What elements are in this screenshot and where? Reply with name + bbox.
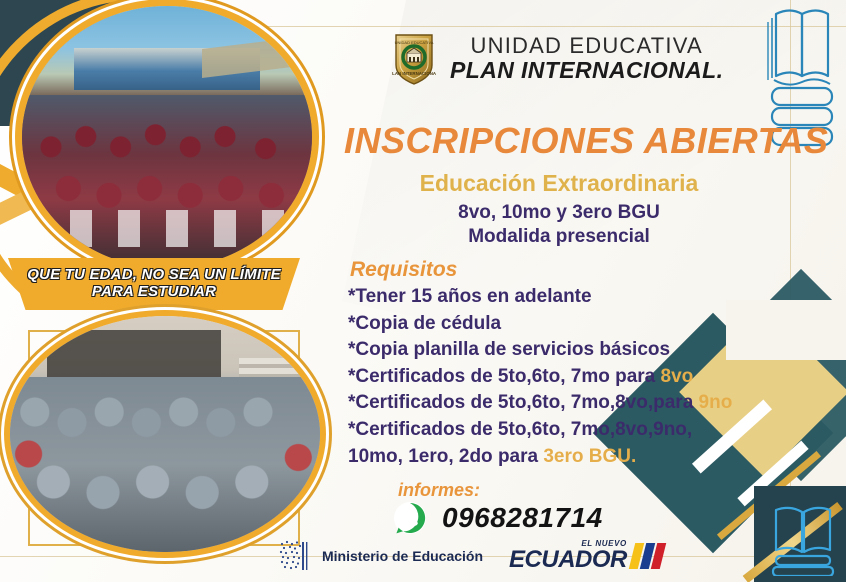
banner-line-2: PARA ESTUDIAR [27, 284, 281, 301]
subtitle-program: Educación Extraordinaria [344, 170, 774, 197]
contact-row[interactable]: 0968281714 [392, 500, 603, 536]
requirement-item: *Certificados de 5to,6to, 7mo para 8vo [348, 364, 800, 391]
institution-header: UNIDAD EDUCATIVA PLAN INTERNACIONAL UNID… [392, 32, 723, 86]
requirement-text: 10mo, 1ero, 2do para [348, 446, 543, 467]
requirement-item: *Copia planilla de servicios básicos [348, 337, 800, 364]
main-headline: INSCRIPCIONES ABIERTAS [344, 120, 788, 162]
tagline-banner: QUE TU EDAD, NO SEA UN LÍMITE PARA ESTUD… [8, 258, 300, 310]
requirement-text: *Copia de cédula [348, 313, 501, 334]
banner-line-1: QUE TU EDAD, NO SEA UN LÍMITE [27, 267, 281, 284]
ministry-label: Ministerio de Educación [322, 548, 483, 564]
requirement-text: *Certificados de 5to,6to, 7mo,8vo,9no, [348, 419, 692, 440]
requirement-item: 10mo, 1ero, 2do para 3ero BGU. [348, 444, 800, 471]
footer-logos: Ministerio de Educación EL NUEVO ECUADOR [276, 534, 696, 578]
content-column: UNIDAD EDUCATIVA PLAN INTERNACIONAL UNID… [336, 0, 796, 582]
grades-offered: 8vo, 10mo y 3ero BGU [344, 202, 774, 224]
classroom-group-photo [10, 316, 320, 552]
poster-root: QUE TU EDAD, NO SEA UN LÍMITE PARA ESTUD… [0, 0, 846, 582]
informes-label: informes: [398, 480, 480, 501]
requirement-text: *Certificados de 5to,6to, 7mo,8vo,para [348, 392, 699, 413]
requirement-text: *Copia planilla de servicios básicos [348, 339, 670, 360]
requirement-highlight: 3ero BGU. [543, 446, 636, 467]
ministerio-de-educacion-logo [276, 538, 310, 574]
school-shield-emblem: UNIDAD EDUCATIVA PLAN INTERNACIONAL [392, 32, 436, 86]
requirement-highlight: 8vo [661, 366, 694, 387]
whatsapp-icon[interactable] [392, 500, 428, 536]
svg-text:UNIDAD EDUCATIVA: UNIDAD EDUCATIVA [395, 40, 434, 45]
requirement-highlight: 9no [699, 392, 733, 413]
svg-text:PLAN INTERNACIONAL: PLAN INTERNACIONAL [392, 71, 436, 76]
requirements-list: *Tener 15 años en adelante*Copia de cédu… [348, 284, 800, 470]
modality-text: Modalida presencial [344, 226, 774, 248]
ecuador-label: ECUADOR [509, 548, 627, 572]
requirement-item: *Certificados de 5to,6to, 7mo,8vo,9no, [348, 417, 800, 444]
el-nuevo-ecuador-logo: EL NUEVO ECUADOR [509, 540, 663, 572]
ecuador-flag-icon [629, 543, 666, 569]
institution-line-2: PLAN INTERNACIONAL. [450, 58, 723, 84]
requirement-item: *Certificados de 5to,6to, 7mo,8vo,para 9… [348, 390, 800, 417]
requirements-title: Requisitos [350, 258, 457, 282]
phone-number[interactable]: 0968281714 [442, 502, 603, 534]
requirement-text: *Certificados de 5to,6to, 7mo para [348, 366, 661, 387]
requirement-text: *Tener 15 años en adelante [348, 286, 592, 307]
graduation-ceremony-photo [22, 6, 312, 268]
requirement-item: *Copia de cédula [348, 311, 800, 338]
institution-line-1: UNIDAD EDUCATIVA [450, 34, 723, 59]
requirement-item: *Tener 15 años en adelante [348, 284, 800, 311]
